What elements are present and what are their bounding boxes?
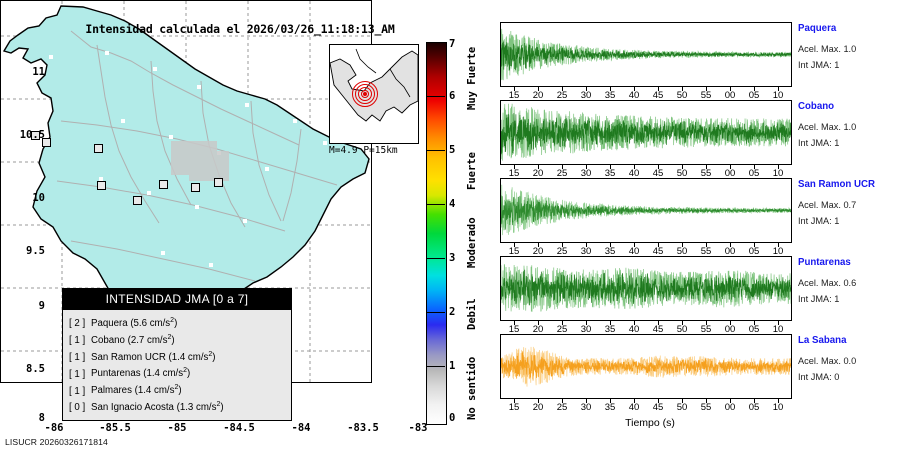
map-x-tick: -86 [24, 422, 84, 434]
station-accel-max: Acel. Max. 1.0 [798, 44, 856, 54]
map-y-tick: 11 [5, 66, 45, 78]
colorbar-tick [426, 258, 445, 259]
colorbar-value: 5 [449, 144, 463, 156]
colorbar-category: Debil [466, 298, 478, 330]
map-x-tick: -84 [271, 422, 331, 434]
list-item: [ 1 ]Puntarenas (1.4 cm/s2) [69, 364, 285, 381]
colorbar-tick [426, 366, 445, 367]
station-marker[interactable] [94, 144, 103, 153]
seismogram-x-tick: 30 [575, 402, 597, 413]
seismogram-x-tick: 15 [503, 402, 525, 413]
seismogram-x-axis: 152025303540455055000510 [500, 399, 790, 415]
page-title: Intensidad calculada el 2026/03/26_11:18… [60, 22, 420, 36]
seismogram-panel[interactable] [500, 334, 792, 399]
intensity-legend: INTENSIDAD JMA [0 a 7] [ 2 ]Paquera (5.6… [62, 288, 292, 421]
colorbar-category: No sentido [466, 357, 478, 420]
seismogram-x-tick: 05 [743, 402, 765, 413]
magnitude-depth-label: M=4.9 P=15km [329, 145, 429, 156]
seismogram-x-tick: 10 [767, 402, 789, 413]
station-marker[interactable] [133, 196, 142, 205]
station-int-jma: Int JMA: 1 [798, 216, 839, 226]
seismogram-x-tick: 40 [623, 402, 645, 413]
map-x-tick: -83.5 [333, 422, 393, 434]
seismogram-x-tick: 50 [671, 402, 693, 413]
legend-list: [ 2 ]Paquera (5.6 cm/s2) [ 1 ]Cobano (2.… [63, 310, 291, 420]
map-y-tick: 10 [5, 192, 45, 204]
list-item: [ 0 ]San Ignacio Acosta (1.3 cm/s2) [69, 398, 285, 415]
seismogram-panel[interactable] [500, 22, 792, 87]
seismogram-x-axis-title: Tiempo (s) [590, 417, 710, 429]
station-name[interactable]: Puntarenas [798, 257, 851, 268]
map-x-tick: -85 [147, 422, 207, 434]
station-name[interactable]: San Ramon UCR [798, 179, 875, 190]
epicenter-marker [352, 81, 378, 107]
colorbar-value: 4 [449, 198, 463, 210]
station-int-jma: Int JMA: 1 [798, 138, 839, 148]
colorbar-value: 6 [449, 90, 463, 102]
list-item: [ 1 ]San Ramon UCR (1.4 cm/s2) [69, 348, 285, 365]
map-x-tick: -84.5 [209, 422, 269, 434]
station-accel-max: Acel. Max. 0.6 [798, 278, 856, 288]
station-name[interactable]: Paquera [798, 23, 836, 34]
station-marker[interactable] [214, 178, 223, 187]
colorbar-category: Fuerte [466, 152, 478, 190]
colorbar-value: 1 [449, 360, 463, 372]
station-int-jma: Int JMA: 1 [798, 60, 839, 70]
seismogram-x-tick: 25 [551, 402, 573, 413]
seismogram-x-tick: 20 [527, 402, 549, 413]
colorbar-category: Moderado [466, 217, 478, 268]
intensity-colorbar [426, 42, 447, 425]
station-name[interactable]: Cobano [798, 101, 834, 112]
seismogram-panel[interactable] [500, 256, 792, 321]
map-y-tick: 8.5 [5, 363, 45, 375]
colorbar-value: 7 [449, 38, 463, 50]
colorbar-tick [426, 96, 445, 97]
station-marker[interactable] [97, 181, 106, 190]
station-accel-max: Acel. Max. 1.0 [798, 122, 856, 132]
seismogram-panel[interactable] [500, 100, 792, 165]
map-y-tick: 10.5 [5, 129, 45, 141]
station-accel-max: Acel. Max. 0.7 [798, 200, 856, 210]
seismogram-x-tick: 35 [599, 402, 621, 413]
colorbar-category: Muy Fuerte [466, 47, 478, 110]
station-marker[interactable] [159, 180, 168, 189]
seismogram-panel[interactable] [500, 178, 792, 243]
colorbar-tick [426, 312, 445, 313]
colorbar-tick [426, 204, 445, 205]
list-item: [ 1 ]Cobano (2.7 cm/s2) [69, 331, 285, 348]
map-y-tick: 9 [5, 300, 45, 312]
location-inset-map[interactable] [329, 44, 419, 144]
station-int-jma: Int JMA: 1 [798, 294, 839, 304]
station-marker[interactable] [191, 183, 200, 192]
list-item: [ 2 ]Paquera (5.6 cm/s2) [69, 314, 285, 331]
colorbar-value: 3 [449, 252, 463, 264]
colorbar-value: 2 [449, 306, 463, 318]
seismogram-x-tick: 55 [695, 402, 717, 413]
station-accel-max: Acel. Max. 0.0 [798, 356, 856, 366]
colorbar-tick [426, 150, 445, 151]
legend-title: INTENSIDAD JMA [0 a 7] [63, 289, 291, 310]
station-name[interactable]: La Sabana [798, 335, 846, 346]
seismogram-x-tick: 00 [719, 402, 741, 413]
seismogram-x-tick: 45 [647, 402, 669, 413]
station-int-jma: Int JMA: 0 [798, 372, 839, 382]
map-x-tick: -85.5 [85, 422, 145, 434]
footer-watermark: LISUCR 20260326171814 [5, 437, 108, 447]
list-item: [ 1 ]Palmares (1.4 cm/s2) [69, 381, 285, 398]
map-y-tick: 9.5 [5, 245, 45, 257]
colorbar-value: 0 [449, 412, 463, 424]
